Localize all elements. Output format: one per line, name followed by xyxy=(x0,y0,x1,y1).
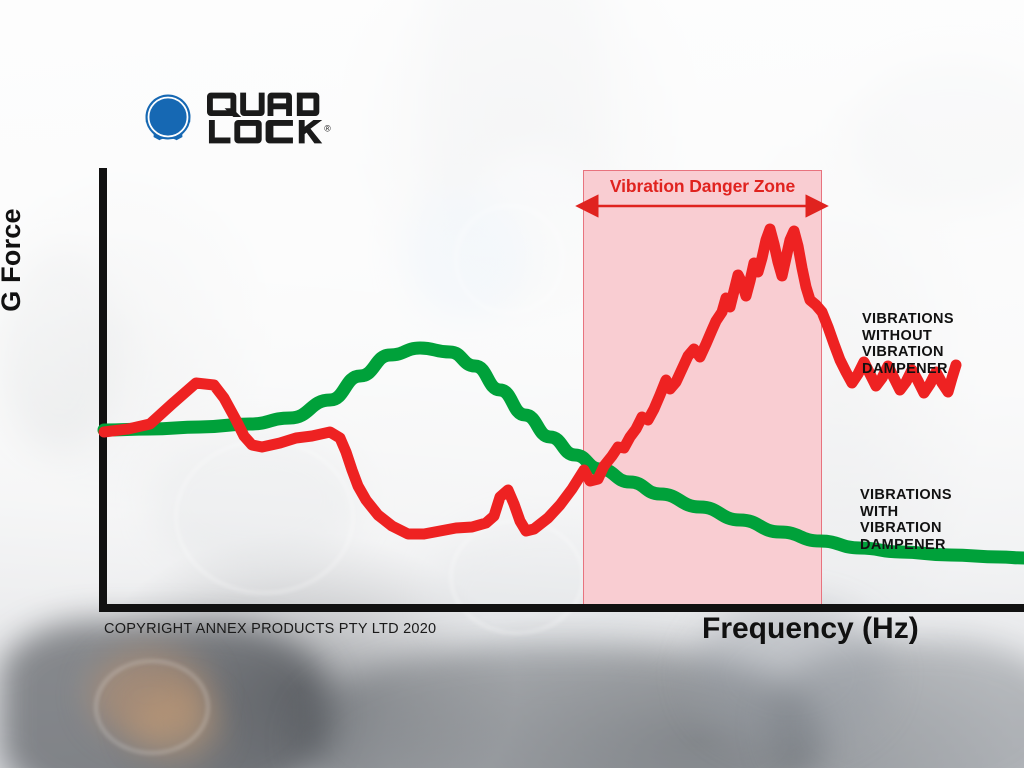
series-line xyxy=(104,229,956,534)
label-vibrations-without-dampener: VIBRATIONS WITHOUT VIBRATION DAMPENER xyxy=(862,311,954,377)
ann-line: VIBRATIONS xyxy=(862,311,954,328)
ann-line: VIBRATION xyxy=(860,520,952,537)
ann-line: VIBRATION xyxy=(862,344,954,361)
copyright-text: COPYRIGHT ANNEX PRODUCTS PTY LTD 2020 xyxy=(104,621,436,637)
ann-line: VIBRATIONS xyxy=(860,487,952,504)
label-vibrations-with-dampener: VIBRATIONS WITH VIBRATION DAMPENER xyxy=(860,487,952,553)
ann-line: WITH xyxy=(860,504,952,521)
ann-line: DAMPENER xyxy=(860,537,952,554)
y-axis-title: G Force xyxy=(0,190,27,330)
infographic-canvas: ® Vibration Danger Zone G Force Frequenc… xyxy=(0,0,1024,768)
chart-plot-area xyxy=(0,0,1024,768)
ann-line: DAMPENER xyxy=(862,361,954,378)
x-axis-title: Frequency (Hz) xyxy=(702,612,919,646)
ann-line: WITHOUT xyxy=(862,328,954,345)
